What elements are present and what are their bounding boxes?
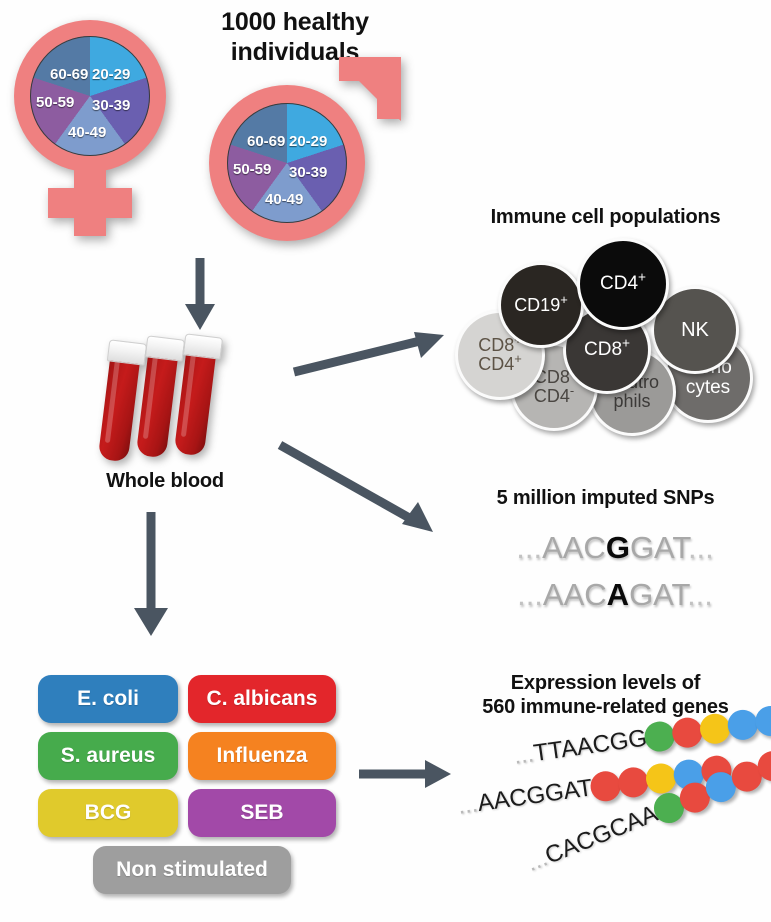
- strand-bead-blue: [726, 708, 760, 742]
- stimuli-group: E. coliC. albicansS. aureusInfluenzaBCGS…: [38, 675, 338, 895]
- label-whole-blood: Whole blood: [60, 470, 270, 494]
- stimulus-button-s-aureus[interactable]: S. aureus: [38, 732, 178, 780]
- stimulus-button-non-stimulated[interactable]: Non stimulated: [93, 846, 291, 894]
- arrow-blood-to-snps: [275, 440, 460, 555]
- immune-cell-label: CD8+CD4+: [478, 336, 522, 374]
- section-title-immune-cells: Immune cell populations: [440, 206, 771, 230]
- section-title-snps: 5 million imputed SNPs: [440, 487, 771, 511]
- strand-bead-red: [616, 765, 650, 799]
- tube-cap: [145, 335, 185, 361]
- age-pie-male: 20-29 30-39 40-49 50-59 60-69: [227, 103, 347, 223]
- immune-cell-label: CD4+: [600, 274, 646, 294]
- arrow-cohort-to-blood: [178, 258, 228, 338]
- stimulus-label: Non stimulated: [116, 858, 268, 882]
- arrow-blood-to-immune: [290, 325, 460, 385]
- snp-sequence-group: ...AACGGAT......AACAGAT...: [470, 530, 760, 620]
- immune-cell-label: CD19+: [514, 296, 568, 315]
- strand-bead-red: [671, 716, 705, 750]
- stimulus-label: Influenza: [216, 744, 307, 768]
- strand-bead-blue: [754, 704, 771, 738]
- strand-sequence-text: ...AACGGAT: [456, 774, 594, 821]
- female-symbol: 20-29 30-39 40-49 50-59 60-69: [8, 14, 188, 244]
- snp-variant-base: G: [606, 530, 630, 565]
- immune-cell-label: NK: [681, 320, 709, 341]
- immune-cell-bubble-cd4: CD4+: [577, 238, 669, 330]
- stimulus-button-bcg[interactable]: BCG: [38, 789, 178, 837]
- immune-cell-label: CD8+: [584, 340, 630, 360]
- blood-tube: [98, 340, 142, 463]
- immune-cell-bubble-group: CD4+CD19+NKCD8+CD8+CD4+CD8-CD4-Neutrophi…: [455, 238, 765, 423]
- stimulus-label: BCG: [85, 801, 132, 825]
- male-symbol: 20-29 30-39 40-49 50-59 60-69: [205, 55, 405, 250]
- age-pie-female: 20-29 30-39 40-49 50-59 60-69: [30, 36, 150, 156]
- stimulus-label: E. coli: [77, 687, 139, 711]
- tube-cap: [183, 333, 223, 359]
- strand-sequence-text: ...TTAACGG: [512, 724, 649, 770]
- stimulus-label: S. aureus: [61, 744, 156, 768]
- stimulus-button-e-coli[interactable]: E. coli: [38, 675, 178, 723]
- strand-sequence-text: ...CACGCAA: [523, 800, 662, 878]
- tube-blood-fill: [174, 346, 217, 457]
- tube-cap: [107, 339, 147, 365]
- stimulus-button-seb[interactable]: SEB: [188, 789, 336, 837]
- snp-sequence-row: ...AACAGAT...: [470, 577, 760, 613]
- strand-bead-yellow: [698, 712, 732, 746]
- arrow-blood-to-stimuli: [128, 512, 178, 642]
- blood-tubes-group: [105, 335, 245, 470]
- tube-blood-fill: [98, 352, 141, 463]
- snp-variant-base: A: [607, 577, 629, 612]
- stimulus-label: SEB: [240, 801, 283, 825]
- snp-sequence-row: ...AACGGAT...: [470, 530, 760, 566]
- stimulus-button-influenza[interactable]: Influenza: [188, 732, 336, 780]
- immune-cell-bubble-cd19: CD19+: [498, 262, 584, 348]
- stimulus-button-c-albicans[interactable]: C. albicans: [188, 675, 336, 723]
- stimulus-label: C. albicans: [207, 687, 318, 711]
- expression-strand-group: ...TTAACGG...AACGGAT...CACGCAA: [450, 730, 771, 915]
